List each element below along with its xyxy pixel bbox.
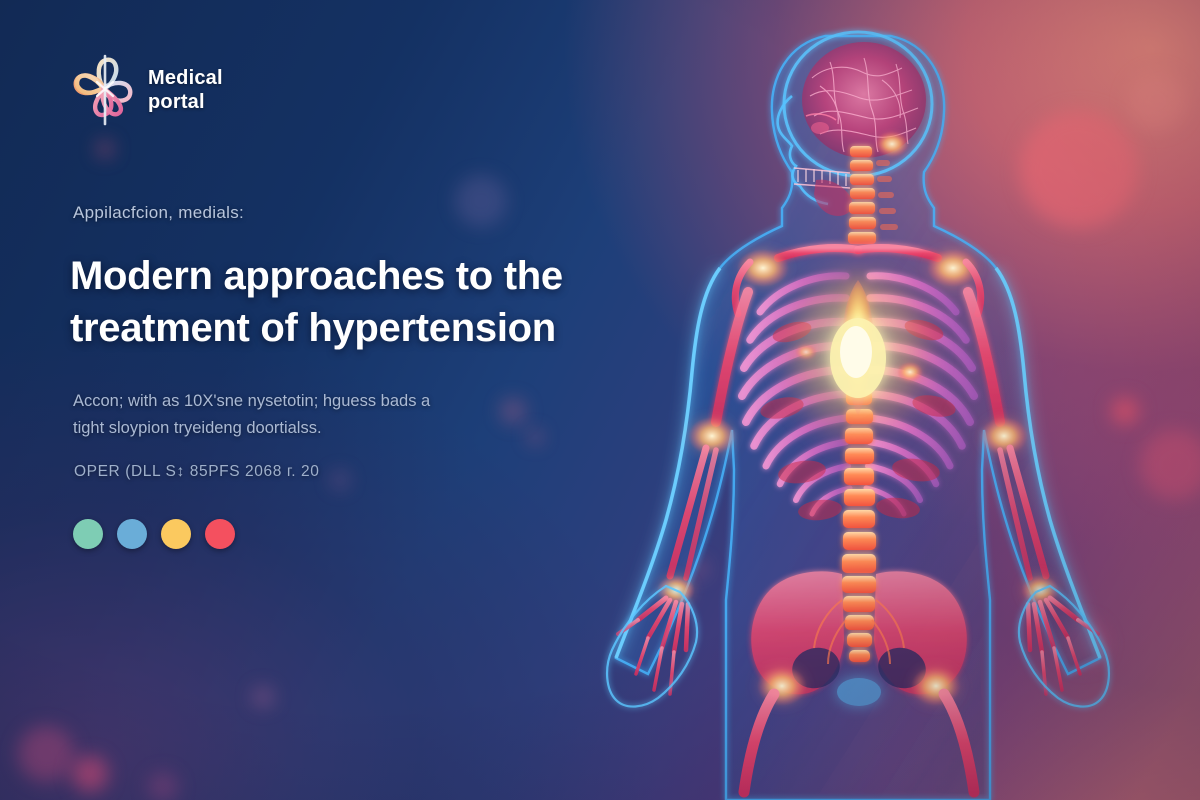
headline-line2: treatment of hypertension xyxy=(70,302,690,354)
brand-logo[interactable]: Medical portal xyxy=(72,52,223,128)
hero-meta: OPER (DLL S↕ 85PFS 2068 г. 20 xyxy=(74,463,319,481)
subcopy-line2: tight sloypion tryeideng doortialss. xyxy=(73,415,543,442)
brand-name-line2: portal xyxy=(148,90,223,114)
brand-name: Medical portal xyxy=(148,66,223,115)
brand-name-line1: Medical xyxy=(148,66,223,90)
dot-red[interactable] xyxy=(205,519,235,549)
color-dot-row xyxy=(73,519,235,549)
banner-root: Medical portal Appilacfcion, medials: Mo… xyxy=(0,0,1200,800)
flower-petal-logo-icon xyxy=(72,52,134,128)
headline-line1: Modern approaches to the xyxy=(70,250,690,302)
hero-subcopy: Accon; with as 10X'sne nysetotin; hguess… xyxy=(73,388,543,441)
subcopy-line1: Accon; with as 10X'sne nysetotin; hguess… xyxy=(73,388,543,415)
hero-headline: Modern approaches to the treatment of hy… xyxy=(70,250,690,354)
dot-mint[interactable] xyxy=(73,519,103,549)
hero-kicker: Appilacfcion, medials: xyxy=(73,203,244,223)
dot-blue[interactable] xyxy=(117,519,147,549)
dot-amber[interactable] xyxy=(161,519,191,549)
